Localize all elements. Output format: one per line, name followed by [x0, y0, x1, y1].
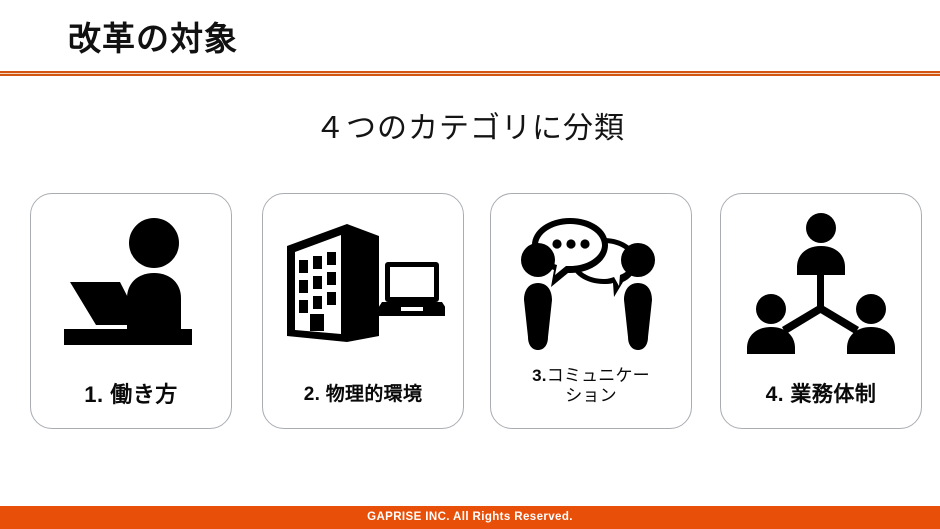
- category-card-1-label: 1. 働き方: [35, 382, 227, 408]
- category-card-2[interactable]: 2. 物理的環境: [262, 193, 464, 429]
- category-card-3-label-line1: コミュニケー: [547, 366, 650, 385]
- subtitle: ４つのカテゴリに分類: [0, 103, 940, 147]
- category-card-2-label: 2. 物理的環境: [267, 384, 459, 406]
- category-card-3-label: 3.コミュニケー ション: [495, 366, 687, 405]
- title-divider-rule: [0, 71, 940, 77]
- category-card-4[interactable]: 4. 業務体制: [720, 193, 922, 429]
- footer-bar: GAPRISE INC. All Rights Reserved.: [0, 506, 940, 529]
- page-title: 改革の対象: [68, 18, 238, 60]
- category-card-3[interactable]: 3.コミュニケー ション: [490, 193, 692, 429]
- office-building-and-laptop-icon: [263, 208, 463, 358]
- footer-copyright: GAPRISE INC. All Rights Reserved.: [0, 506, 940, 529]
- two-people-speech-bubbles-icon: [491, 208, 691, 358]
- slide-header: 改革の対象: [0, 0, 940, 78]
- category-card-3-label-line2: ション: [565, 386, 617, 405]
- category-card-3-index: 3.: [532, 366, 547, 385]
- person-at-laptop-desk-icon: [31, 208, 231, 358]
- category-card-4-label: 4. 業務体制: [725, 383, 917, 407]
- category-card-group: 1. 働き方: [30, 193, 922, 429]
- divider-line-bottom: [0, 74, 940, 76]
- org-chart-three-people-icon: [721, 208, 921, 358]
- category-card-1[interactable]: 1. 働き方: [30, 193, 232, 429]
